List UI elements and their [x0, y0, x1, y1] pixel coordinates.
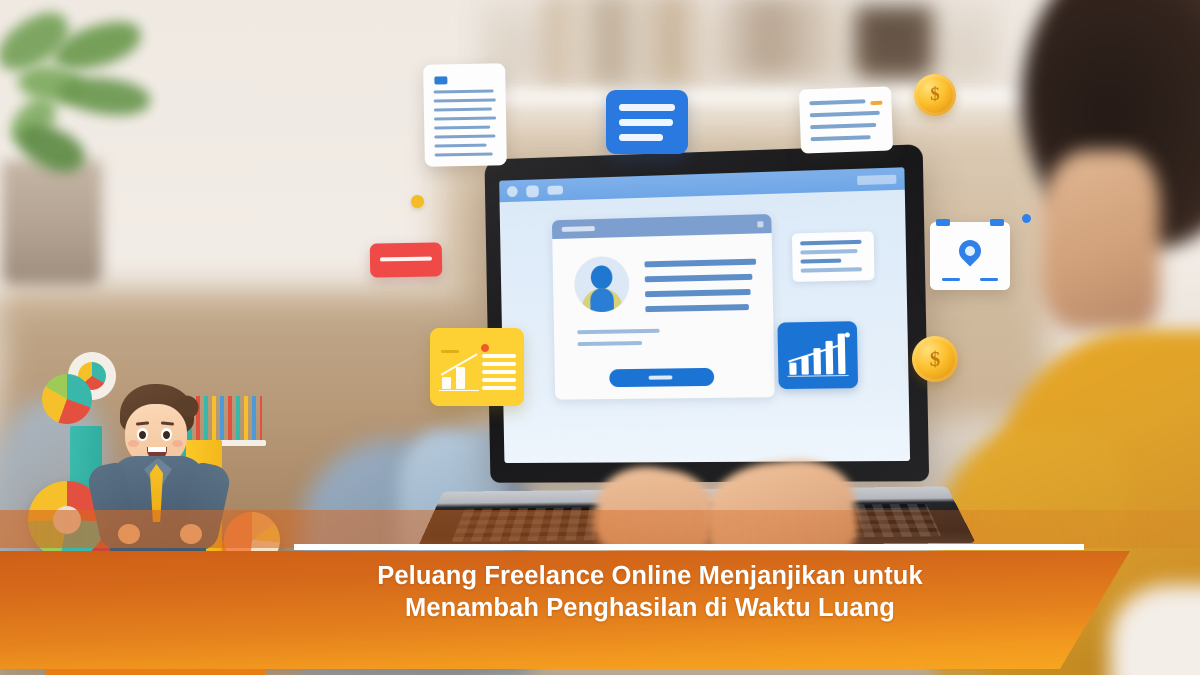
text-line	[434, 134, 495, 138]
cheek	[172, 440, 183, 447]
text-line	[811, 135, 871, 141]
blue-list-card	[606, 90, 688, 154]
text-line	[434, 89, 494, 93]
text-line	[482, 378, 516, 382]
text-line	[435, 153, 493, 157]
text-line	[577, 329, 659, 334]
text-line	[980, 278, 998, 281]
text-line	[434, 116, 496, 120]
page-title-line1: Peluang Freelance Online Menjanjikan unt…	[300, 560, 1000, 592]
sparkle-teal-icon	[258, 513, 288, 543]
blue-dot	[1022, 214, 1031, 223]
eyebrow	[136, 421, 149, 425]
location-pin-card	[930, 222, 1010, 290]
chart-axis	[788, 375, 849, 377]
text-line	[809, 99, 865, 105]
yellow-chart-card	[430, 328, 524, 406]
chart-endpoint	[845, 332, 850, 337]
coin-right: $	[912, 336, 958, 382]
text-line	[482, 354, 516, 358]
primary-action-button[interactable]	[609, 368, 714, 387]
text-line	[619, 119, 673, 126]
title-divider	[294, 544, 1084, 550]
chart-bar	[838, 334, 846, 375]
chart-axis	[439, 390, 479, 392]
text-line	[800, 249, 857, 254]
window-controls-icon	[857, 175, 896, 185]
sparkle-teal-icon	[955, 508, 979, 532]
cheek	[128, 440, 139, 447]
text-line	[810, 123, 876, 129]
laptop-screen[interactable]	[499, 167, 910, 463]
eyebrow	[161, 421, 174, 425]
avatar-head	[591, 265, 613, 289]
text-line	[435, 144, 487, 148]
red-bar-card	[370, 242, 443, 277]
tab	[990, 219, 1004, 226]
text-line	[434, 108, 492, 112]
circle-icon	[507, 186, 518, 197]
highlight-marker	[870, 101, 882, 105]
header-title-bar	[562, 226, 595, 232]
text-line	[482, 362, 516, 366]
text-line	[434, 98, 496, 102]
text-line	[800, 240, 861, 246]
text-line	[800, 259, 841, 264]
avatar	[574, 256, 630, 313]
note-card	[799, 86, 893, 153]
text-line	[942, 278, 960, 281]
text-line	[434, 126, 490, 130]
document-card	[423, 63, 507, 166]
tab	[936, 219, 950, 226]
text-line	[619, 134, 663, 141]
chart-bar	[442, 377, 451, 389]
profile-card-header	[552, 214, 772, 239]
square-icon	[526, 185, 539, 197]
books-secondary	[720, 0, 840, 76]
text-line	[810, 111, 880, 117]
avatar-body	[581, 288, 623, 313]
text-line	[619, 104, 675, 111]
chart-bar	[813, 348, 821, 374]
yellow-dot	[411, 195, 424, 208]
sparkle-white-icon	[311, 520, 329, 538]
chart-bar	[789, 363, 796, 375]
text-line	[801, 267, 862, 272]
pie-chart-top	[42, 374, 92, 424]
text-line	[645, 304, 749, 312]
books	[545, 0, 705, 86]
bar-chart-icon	[777, 321, 858, 389]
eye	[137, 428, 148, 441]
text-line	[482, 370, 516, 374]
chart-label	[441, 350, 459, 353]
chart-bar	[825, 341, 833, 375]
banner-image: $ $	[0, 0, 1200, 675]
window-icon	[547, 185, 563, 194]
page-title: Peluang Freelance Online Menjanjikan unt…	[300, 560, 1000, 624]
text-list-card	[792, 231, 875, 282]
eye	[161, 428, 172, 441]
text-line	[577, 341, 642, 346]
card-tabs	[936, 219, 1004, 226]
map-pin-icon	[954, 235, 985, 266]
document-icon	[434, 76, 447, 84]
laptop-lid	[484, 144, 929, 483]
text-line	[644, 259, 756, 268]
profile-card	[552, 214, 775, 400]
text-line	[645, 289, 751, 297]
sparkle-white-icon	[1008, 522, 1022, 536]
screen-body	[500, 190, 911, 463]
page-title-line2: Menambah Penghasilan di Waktu Luang	[300, 592, 1000, 624]
chart-endpoint	[481, 344, 489, 352]
text-line	[645, 274, 753, 282]
chart-bar	[456, 367, 465, 389]
coin-top: $	[914, 74, 956, 116]
shelf-plant-pot	[855, 6, 933, 78]
header-action-icon	[757, 221, 763, 227]
person-neck	[1040, 150, 1160, 330]
plant-pot	[2, 160, 102, 285]
chart-bar	[801, 356, 808, 374]
text-line	[482, 386, 516, 390]
